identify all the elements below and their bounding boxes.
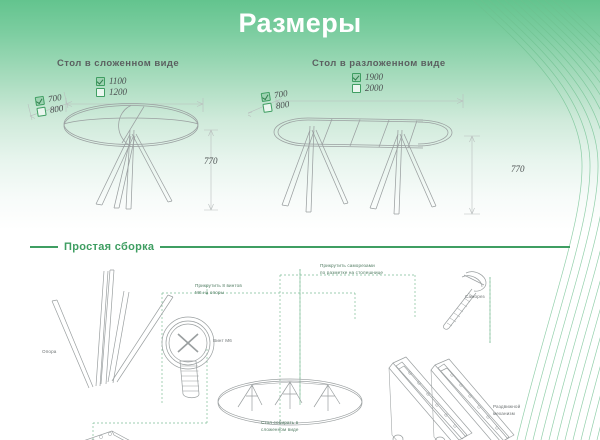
drawing-table-unfolded [248, 62, 533, 222]
dimension-options-unfolded-depth[interactable]: 700 800 [261, 88, 290, 113]
option-value: 800 [275, 99, 290, 111]
note-attach-selftapping: Прикрутить саморезами по разметке на сто… [320, 263, 383, 276]
dimension-height-unfolded: 770 [511, 164, 525, 174]
divider-right [160, 246, 570, 247]
dimension-options-unfolded-width[interactable]: 1900 2000 [352, 72, 383, 93]
option-value: 2000 [365, 83, 383, 93]
checkbox-unchecked-icon[interactable] [36, 106, 46, 116]
checkbox-unchecked-icon[interactable] [96, 88, 105, 97]
assembly-section-heading: Простая сборка [30, 240, 570, 254]
option-row[interactable]: 1900 [352, 72, 383, 82]
checkbox-checked-icon[interactable] [35, 95, 45, 105]
option-value: 800 [49, 103, 64, 115]
dimension-options-folded-depth[interactable]: 700 800 [35, 92, 64, 117]
label-vint-m6: Винт М6 [213, 338, 232, 345]
note-assemble-folded: Стол собирать в сложенном виде [261, 420, 299, 433]
page-title: Размеры [0, 8, 600, 39]
label-samorez: Саморез [465, 294, 485, 301]
assembly-heading-label: Простая сборка [64, 241, 154, 253]
option-row[interactable]: 1100 [96, 76, 127, 86]
drawing-table-folded [18, 64, 253, 219]
checkbox-unchecked-icon[interactable] [352, 84, 361, 93]
dimension-height-folded: 770 [204, 156, 218, 166]
note-attach-screws: Прикрутить 8 винтов М6 на опоры [195, 283, 242, 296]
checkbox-checked-icon[interactable] [352, 73, 361, 82]
checkbox-checked-icon[interactable] [96, 77, 105, 86]
infographic-canvas: Размеры Стол в сложенном виде Стол в раз… [0, 0, 600, 440]
label-opora: Опора [42, 349, 56, 356]
label-mechanism: Раздвижной механизм [493, 404, 520, 417]
dimension-options-folded-width[interactable]: 1100 1200 [96, 76, 127, 97]
option-value: 1200 [109, 87, 127, 97]
checkbox-checked-icon[interactable] [261, 91, 271, 101]
option-value: 1100 [109, 76, 126, 86]
option-row[interactable]: 2000 [352, 83, 383, 93]
checkbox-unchecked-icon[interactable] [262, 102, 272, 112]
option-row[interactable]: 1200 [96, 87, 127, 97]
divider-left [30, 246, 58, 247]
option-value: 1900 [365, 72, 383, 82]
